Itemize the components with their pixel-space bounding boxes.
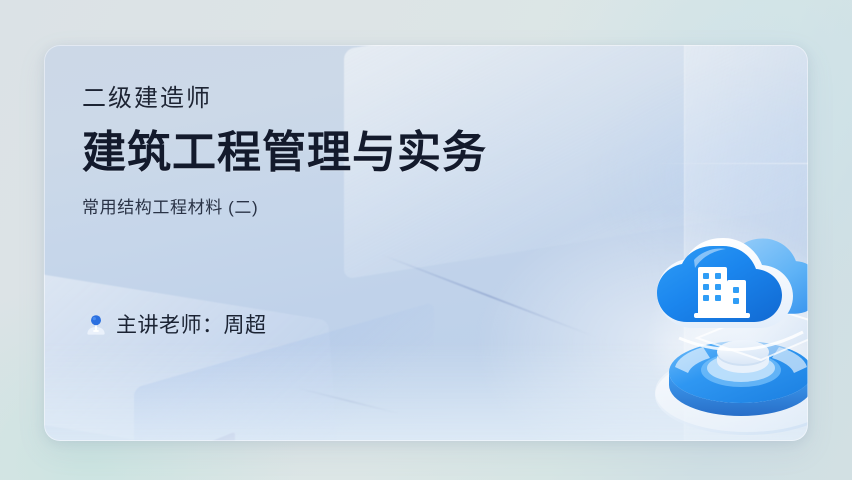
lesson-subtitle: 常用结构工程材料 (二) — [82, 199, 642, 216]
art-plate-lower-left — [44, 267, 339, 441]
instructor-credit: 主讲老师：周超 — [84, 313, 267, 337]
user-avatar-icon — [84, 313, 108, 337]
cover-card: 二级建造师 建筑工程管理与实务 常用结构工程材料 (二) 主讲老师：周超 — [44, 45, 808, 441]
course-category: 二级建造师 — [82, 87, 642, 111]
art-wedge-accent — [189, 432, 235, 441]
cloud-building-3d-illustration — [639, 220, 808, 441]
course-title: 建筑工程管理与实务 — [82, 129, 642, 177]
slide-canvas: 二级建造师 建筑工程管理与实务 常用结构工程材料 (二) 主讲老师：周超 — [0, 0, 852, 480]
instructor-name: 主讲老师：周超 — [116, 315, 267, 336]
art-diagonal-stroke-b — [295, 387, 402, 416]
art-hairline-rule — [644, 163, 808, 164]
title-block: 二级建造师 建筑工程管理与实务 常用结构工程材料 (二) — [82, 87, 642, 216]
art-diagonal-stroke-a — [381, 254, 596, 338]
